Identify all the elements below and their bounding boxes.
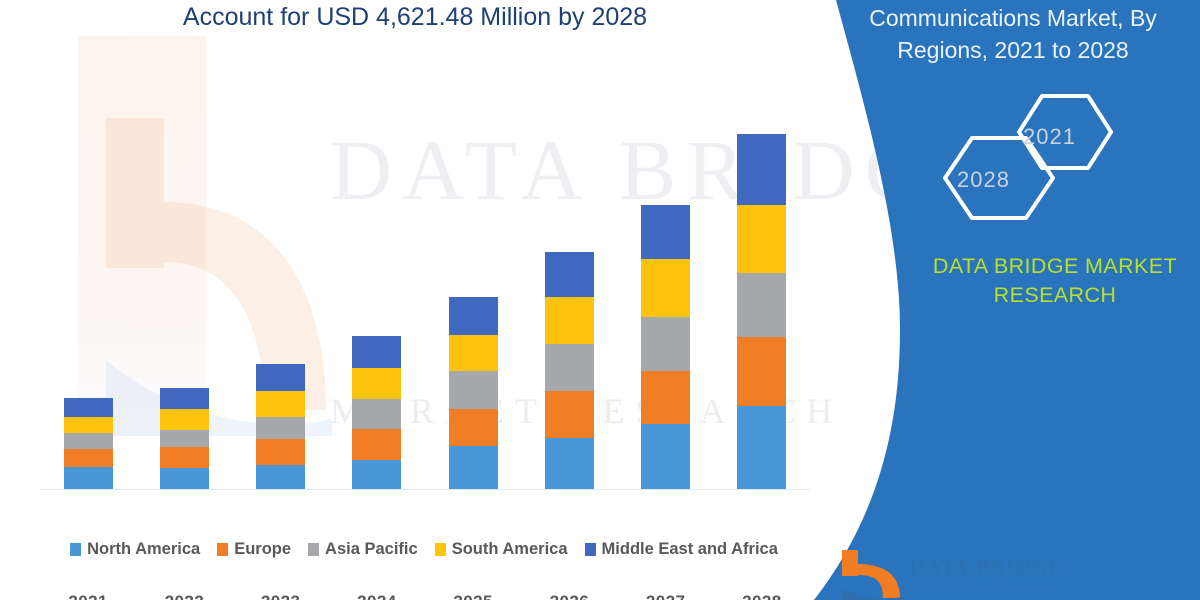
dbmr-b-mark-icon [838, 548, 906, 600]
brand-panel-title: Critical Communications Market, By Regio… [848, 0, 1178, 66]
dbmr-logo: DATA BRIDGE MARKET RESEARCH [838, 548, 1168, 600]
bar-group [139, 388, 229, 489]
bar-segment[interactable] [737, 273, 786, 336]
stacked-bar[interactable] [641, 205, 690, 489]
page-title: Global Critical Communications Market is… [0, 0, 830, 34]
brand-name: DATA BRIDGE MARKET RESEARCH [880, 252, 1200, 310]
bar-segment[interactable] [160, 388, 209, 409]
x-axis-tick-label: 2027 [621, 592, 711, 600]
legend-item[interactable]: South America [435, 540, 568, 559]
stacked-bar[interactable] [64, 398, 113, 489]
brand-title-line3: Regions, 2021 to 2028 [848, 34, 1178, 66]
bar-segment[interactable] [641, 371, 690, 424]
bar-segment[interactable] [352, 399, 401, 429]
legend-item[interactable]: Middle East and Africa [585, 540, 778, 559]
x-axis-tick-label: 2025 [428, 592, 518, 600]
bar-segment[interactable] [256, 391, 305, 417]
bar-segment[interactable] [352, 336, 401, 369]
legend-label: Asia Pacific [325, 540, 418, 559]
bar-segment[interactable] [545, 438, 594, 489]
bar-segment[interactable] [641, 259, 690, 317]
bar-segment[interactable] [737, 406, 786, 489]
page-title-line2: Account for USD 4,621.48 Million by 2028 [0, 0, 830, 34]
bar-segment[interactable] [160, 409, 209, 430]
dbmr-logo-text: DATA BRIDGE [910, 555, 1063, 580]
brand-name-line1: DATA BRIDGE MARKET [880, 252, 1200, 281]
stacked-bar[interactable] [352, 336, 401, 489]
x-axis-tick-label: 2023 [236, 592, 326, 600]
plot-area [40, 102, 810, 490]
legend-swatch-icon [435, 543, 446, 556]
hexagon-2028-label: 2028 [957, 167, 1010, 193]
stacked-bar-chart: 20212022202320242025202620272028 [40, 100, 810, 490]
x-axis-tick-label: 2026 [524, 592, 614, 600]
bar-group [332, 336, 422, 489]
bar-segment[interactable] [256, 465, 305, 489]
bar-series-container [40, 102, 810, 489]
x-axis-tick-label: 2021 [43, 592, 133, 600]
legend-swatch-icon [308, 543, 319, 556]
bar-group [717, 134, 807, 489]
bar-segment[interactable] [64, 433, 113, 449]
legend-swatch-icon [585, 543, 596, 556]
stacked-bar[interactable] [160, 388, 209, 489]
bar-segment[interactable] [64, 449, 113, 467]
brand-name-line2: RESEARCH [880, 281, 1200, 310]
chart-panel: DATA BRIDGE MARKET RESEARCH Global Criti… [0, 0, 900, 600]
bar-segment[interactable] [449, 371, 498, 409]
hexagon-2021-label: 2021 [1023, 124, 1076, 150]
bar-segment[interactable] [256, 439, 305, 466]
bar-segment[interactable] [737, 337, 786, 406]
bar-segment[interactable] [641, 424, 690, 489]
infographic-canvas: DATA BRIDGE MARKET RESEARCH Global Criti… [0, 0, 1200, 600]
bar-group [236, 364, 326, 489]
bar-segment[interactable] [737, 205, 786, 274]
legend-label: North America [87, 540, 200, 559]
bar-segment[interactable] [737, 134, 786, 205]
legend-item[interactable]: North America [70, 540, 200, 559]
bar-segment[interactable] [160, 430, 209, 447]
chart-legend: North AmericaEuropeAsia PacificSouth Ame… [38, 540, 810, 559]
legend-swatch-icon [217, 543, 228, 556]
legend-label: Middle East and Africa [602, 540, 778, 559]
bar-segment[interactable] [256, 417, 305, 439]
x-axis-tick-label: 2024 [332, 592, 422, 600]
bar-segment[interactable] [641, 317, 690, 371]
x-axis-tick-label: 2028 [717, 592, 807, 600]
brand-title-line2: Communications Market, By [848, 2, 1178, 34]
bar-segment[interactable] [160, 468, 209, 489]
dbmr-logo-subtext: MARKET RESEARCH [912, 580, 1045, 590]
bar-segment[interactable] [545, 344, 594, 391]
bar-group [621, 205, 711, 489]
bar-segment[interactable] [352, 368, 401, 398]
legend-swatch-icon [70, 543, 81, 556]
bar-segment[interactable] [352, 429, 401, 461]
bar-group [428, 297, 518, 489]
bar-segment[interactable] [545, 297, 594, 344]
bar-segment[interactable] [160, 447, 209, 468]
bar-segment[interactable] [449, 409, 498, 447]
legend-label: Europe [234, 540, 291, 559]
legend-label: South America [452, 540, 568, 559]
hexagon-pair-graphic [920, 92, 1120, 222]
bar-segment[interactable] [64, 467, 113, 489]
x-axis-line [40, 489, 810, 490]
x-axis-labels: 20212022202320242025202620272028 [40, 592, 810, 600]
stacked-bar[interactable] [545, 252, 594, 489]
stacked-bar[interactable] [449, 297, 498, 489]
bar-segment[interactable] [352, 460, 401, 489]
bar-group [524, 252, 614, 489]
legend-item[interactable]: Asia Pacific [308, 540, 418, 559]
x-axis-tick-label: 2022 [139, 592, 229, 600]
bar-segment[interactable] [545, 391, 594, 437]
bar-segment[interactable] [64, 398, 113, 416]
bar-segment[interactable] [64, 417, 113, 433]
bar-segment[interactable] [641, 205, 690, 259]
stacked-bar[interactable] [737, 134, 786, 489]
legend-item[interactable]: Europe [217, 540, 291, 559]
bar-segment[interactable] [449, 446, 498, 489]
stacked-bar[interactable] [256, 364, 305, 489]
bar-segment[interactable] [256, 364, 305, 391]
bar-group [43, 398, 133, 489]
bar-segment[interactable] [449, 335, 498, 371]
bar-segment[interactable] [545, 252, 594, 297]
bar-segment[interactable] [449, 297, 498, 335]
